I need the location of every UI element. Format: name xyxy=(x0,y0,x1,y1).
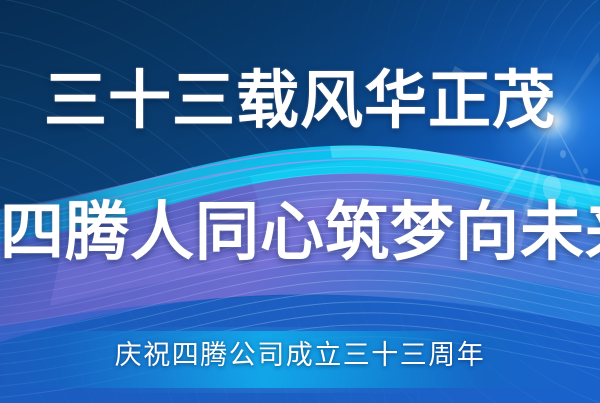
anniversary-banner: 三十三载风华正茂 四腾人同心筑梦向未来 庆祝四腾公司成立三十三周年 xyxy=(0,0,600,403)
banner-text-group: 三十三载风华正茂 四腾人同心筑梦向未来 庆祝四腾公司成立三十三周年 xyxy=(0,0,600,403)
headline-line-1: 三十三载风华正茂 xyxy=(0,66,600,136)
headline-line-2: 四腾人同心筑梦向未来 xyxy=(0,198,600,268)
subtitle-text: 庆祝四腾公司成立三十三周年 xyxy=(0,339,600,373)
